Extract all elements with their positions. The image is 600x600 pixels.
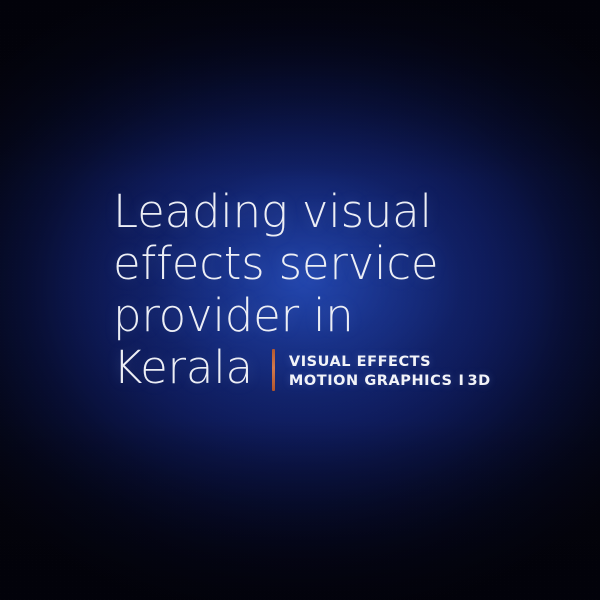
headline-line-3: provider in [113, 290, 583, 342]
tagline-motion-graphics: MOTION GRAPHICS [289, 373, 453, 389]
tagline-line-1: VISUAL EFFECTS [289, 353, 491, 372]
services-tagline: VISUAL EFFECTS MOTION GRAPHICSI3D [289, 353, 491, 391]
headline: Leading visual effects service provider … [113, 186, 583, 342]
headline-block: Leading visual effects service provider … [113, 186, 583, 394]
headline-line-4: Kerala [113, 342, 253, 394]
headline-last-row: Kerala VISUAL EFFECTS MOTION GRAPHICSI3D [113, 342, 583, 394]
orange-vertical-rule-icon [272, 349, 275, 391]
tagline-line-2: MOTION GRAPHICSI3D [289, 372, 491, 391]
tagline-separator: I [453, 372, 468, 391]
promo-banner: Leading visual effects service provider … [0, 0, 600, 600]
tagline-3d: 3D [467, 373, 490, 389]
headline-line-2: effects service [113, 238, 583, 290]
headline-line-1: Leading visual [113, 186, 583, 238]
